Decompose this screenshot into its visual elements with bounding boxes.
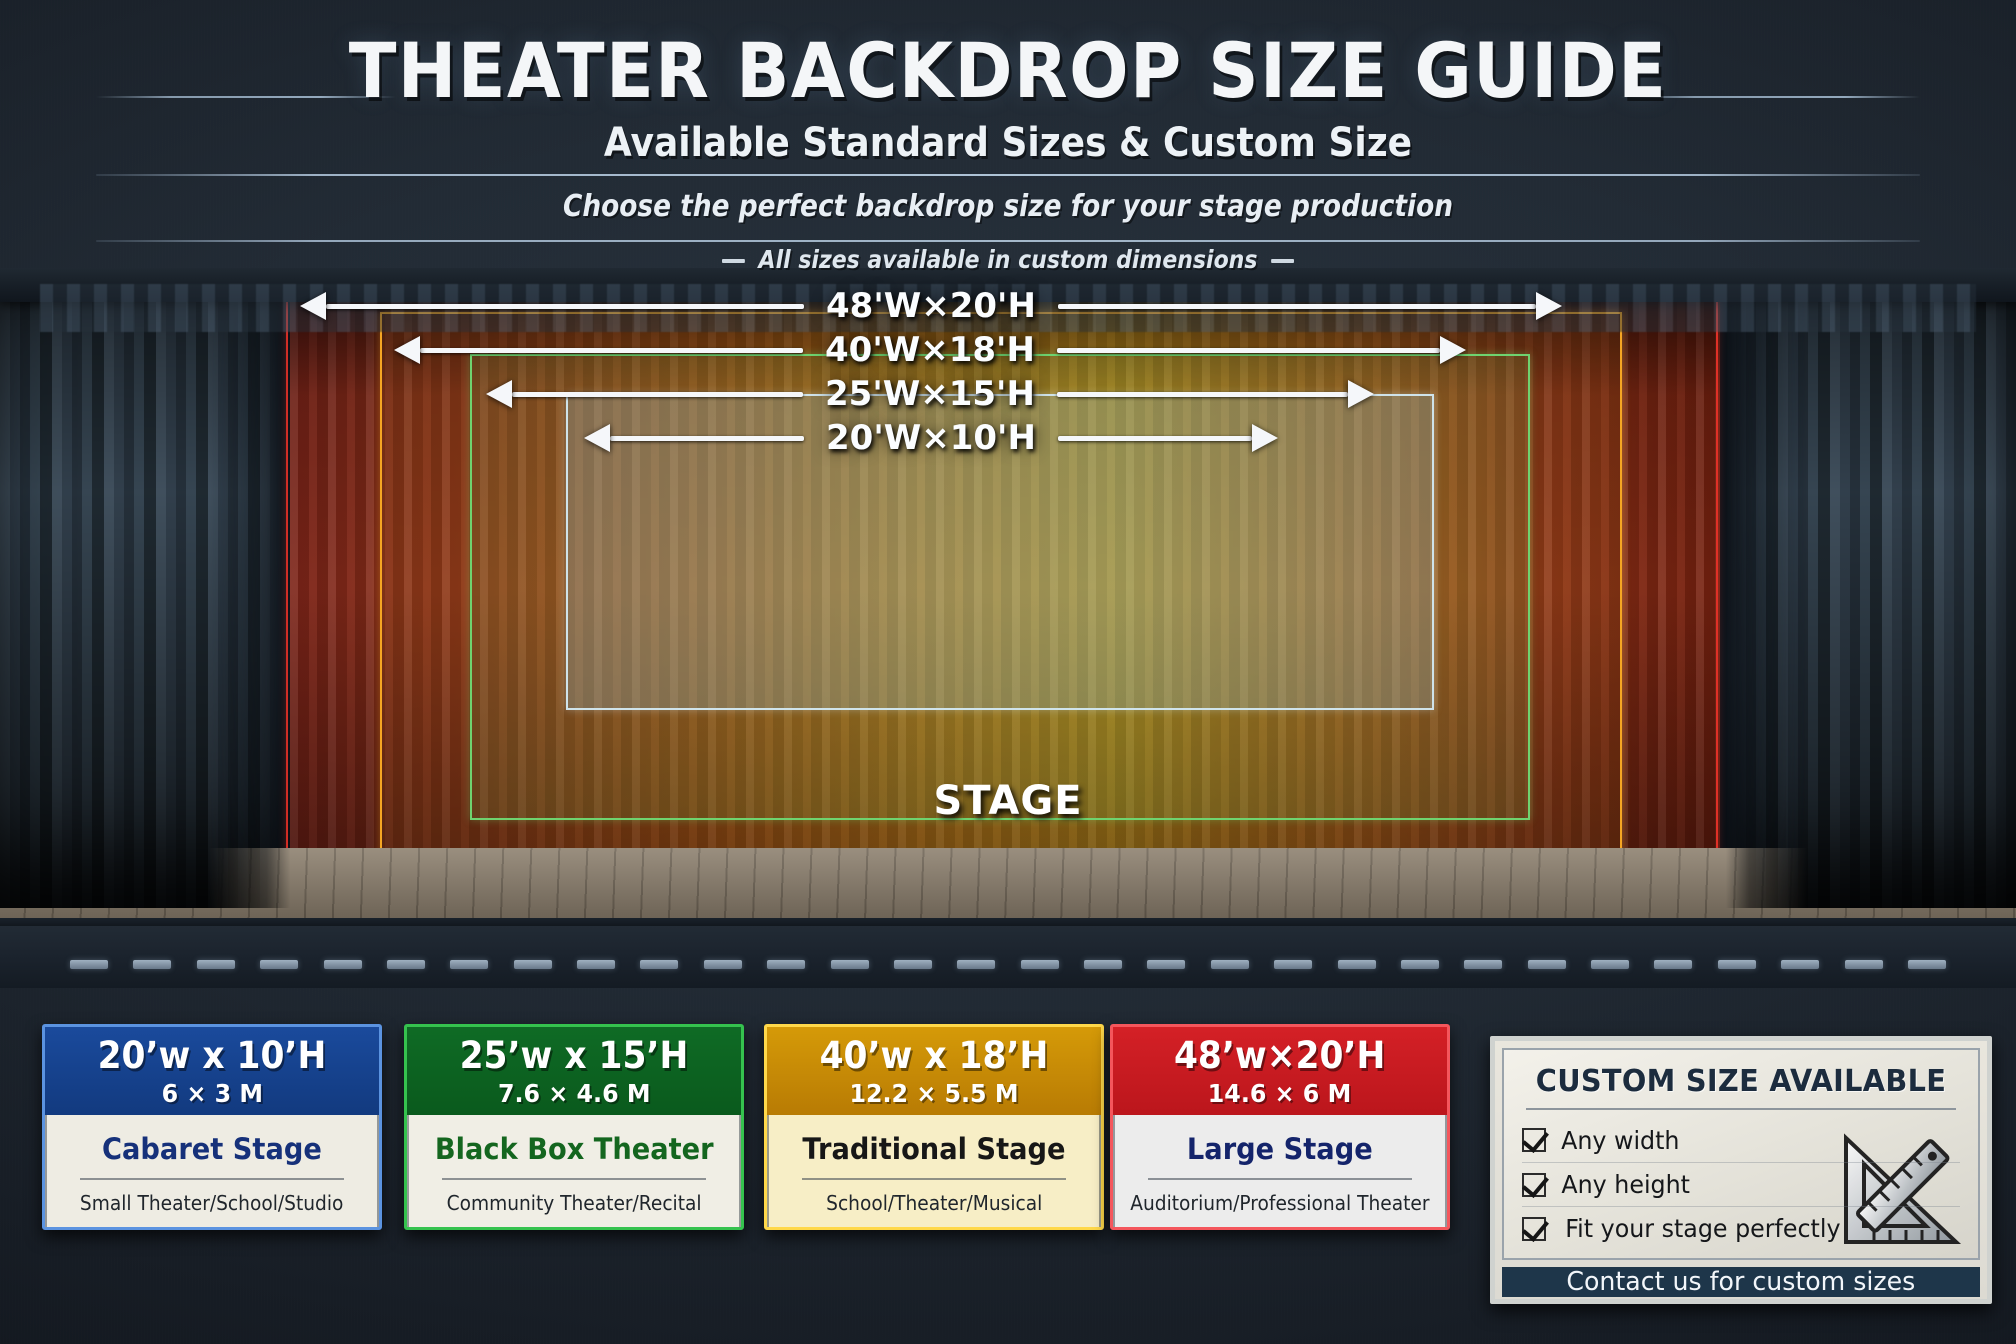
- arrow-right-icon: [1252, 424, 1278, 452]
- checkbox-checked-icon: [1522, 1173, 1546, 1197]
- footlight: [260, 960, 298, 969]
- arrow-left-icon: [300, 292, 326, 320]
- header-rule-low: [96, 240, 1920, 242]
- card-divider: [802, 1178, 1066, 1180]
- tagline-secondary-text: All sizes available in custom dimensions: [759, 245, 1258, 274]
- custom-panel-divider: [1526, 1108, 1956, 1110]
- card-usage-label: School/Theater/Musical: [826, 1191, 1042, 1215]
- stage-illustration: 48'W×20'H 40'W×18'H 25'W×15'H 20'W×10'H …: [0, 268, 2016, 988]
- arrow-right-icon: [1348, 380, 1374, 408]
- arrow-left-icon: [394, 336, 420, 364]
- dimension-label-20: 20'W×10'H: [804, 418, 1058, 458]
- arrow-left-icon: [486, 380, 512, 408]
- card-head: 25’w x 15’H 7.6 × 4.6 M: [407, 1027, 741, 1115]
- custom-panel-inner: CUSTOM SIZE AVAILABLE: [1502, 1048, 1980, 1260]
- header: THEATER BACKDROP SIZE GUIDE Available St…: [0, 0, 2016, 288]
- arrow-left-icon: [584, 424, 610, 452]
- card-body: Large Stage Auditorium/Professional Thea…: [1113, 1115, 1447, 1230]
- page-subtitle: Available Standard Sizes & Custom Size: [101, 120, 1915, 166]
- card-usage-label: Auditorium/Professional Theater: [1130, 1191, 1429, 1215]
- footlight: [1528, 960, 1566, 969]
- dimension-line-left: [610, 436, 804, 441]
- custom-feature-item: Any width: [1522, 1118, 1960, 1162]
- footlight: [1021, 960, 1059, 969]
- card-name-label: Large Stage: [1187, 1132, 1373, 1166]
- card-metric-label: 12.2 × 5.5 M: [849, 1079, 1018, 1108]
- dimension-row-25: 25'W×15'H: [486, 374, 1516, 414]
- card-body: Cabaret Stage Small Theater/School/Studi…: [45, 1115, 379, 1230]
- footlight: [514, 960, 552, 969]
- page-title: THEATER BACKDROP SIZE GUIDE: [81, 26, 1936, 115]
- custom-feature-item: Fit your stage perfectly: [1522, 1206, 1960, 1250]
- card-usage-label: Small Theater/School/Studio: [80, 1191, 343, 1215]
- size-card-cabaret[interactable]: 20’w x 10’H 6 × 3 M Cabaret Stage Small …: [42, 1024, 382, 1230]
- footlight: [387, 960, 425, 969]
- dimension-label-40: 40'W×18'H: [803, 330, 1057, 370]
- size-card-large[interactable]: 48’w×20’H 14.6 × 6 M Large Stage Auditor…: [1110, 1024, 1450, 1230]
- stage-label: STAGE: [0, 778, 2016, 824]
- footlight: [324, 960, 362, 969]
- footlight: [1654, 960, 1692, 969]
- arrow-right-icon: [1536, 292, 1562, 320]
- custom-feature-label: Fit your stage perfectly: [1565, 1214, 1840, 1243]
- footlight: [704, 960, 742, 969]
- dimension-label-25: 25'W×15'H: [803, 374, 1057, 414]
- checkbox-checked-icon: [1522, 1217, 1546, 1241]
- card-divider: [442, 1178, 706, 1180]
- custom-panel-cta[interactable]: Contact us for custom sizes: [1502, 1267, 1980, 1297]
- footlight: [1908, 960, 1946, 969]
- footlight: [640, 960, 678, 969]
- dimension-line-left: [326, 304, 804, 309]
- card-name-label: Cabaret Stage: [102, 1132, 322, 1166]
- footlight: [577, 960, 615, 969]
- card-body: Black Box Theater Community Theater/Reci…: [407, 1115, 741, 1230]
- size-card-black-box[interactable]: 25’w x 15’H 7.6 × 4.6 M Black Box Theate…: [404, 1024, 744, 1230]
- dimension-line-right: [1058, 436, 1252, 441]
- checkbox-checked-icon: [1522, 1128, 1546, 1152]
- page-tagline: Choose the perfect backdrop size for you…: [121, 189, 1895, 224]
- header-rule-mid: [96, 174, 1920, 176]
- card-head: 48’w×20’H 14.6 × 6 M: [1113, 1027, 1447, 1115]
- footlight: [133, 960, 171, 969]
- dimension-line-right: [1057, 348, 1440, 353]
- custom-feature-label: Any width: [1561, 1126, 1679, 1155]
- card-metric-label: 7.6 × 4.6 M: [498, 1079, 650, 1108]
- footlight-strip: [70, 960, 1946, 970]
- page-tagline-secondary: All sizes available in custom dimensions: [121, 245, 1895, 274]
- footlight: [894, 960, 932, 969]
- stage-floor: [0, 848, 2016, 926]
- card-usage-label: Community Theater/Recital: [447, 1191, 702, 1215]
- footlight: [197, 960, 235, 969]
- card-body: Traditional Stage School/Theater/Musical: [767, 1115, 1101, 1230]
- card-size-label: 25’w x 15’H: [460, 1034, 689, 1077]
- dimension-line-left: [512, 392, 803, 397]
- dash-right-icon: [1272, 259, 1295, 263]
- dimension-line-right: [1057, 392, 1348, 397]
- card-name-label: Traditional Stage: [802, 1132, 1065, 1166]
- dimension-line-left: [420, 348, 803, 353]
- footlight: [1591, 960, 1629, 969]
- card-divider: [1148, 1178, 1412, 1180]
- footlight: [1401, 960, 1439, 969]
- custom-size-panel[interactable]: CUSTOM SIZE AVAILABLE: [1490, 1036, 1992, 1304]
- card-divider: [80, 1178, 344, 1180]
- footlight: [1464, 960, 1502, 969]
- footlight: [1211, 960, 1249, 969]
- stage-apron: [0, 926, 2016, 988]
- dash-left-icon: [722, 259, 745, 263]
- footlight: [1718, 960, 1756, 969]
- card-metric-label: 6 × 3 M: [161, 1079, 262, 1108]
- footlight: [1147, 960, 1185, 969]
- card-size-label: 48’w×20’H: [1174, 1034, 1385, 1077]
- card-head: 20’w x 10’H 6 × 3 M: [45, 1027, 379, 1115]
- custom-feature-label: Any height: [1561, 1170, 1690, 1199]
- card-head: 40’w x 18’H 12.2 × 5.5 M: [767, 1027, 1101, 1115]
- dimension-row-20: 20'W×10'H: [584, 418, 1420, 458]
- card-name-label: Black Box Theater: [435, 1132, 714, 1166]
- dimension-line-right: [1058, 304, 1536, 309]
- footlight: [1781, 960, 1819, 969]
- card-metric-label: 14.6 × 6 M: [1208, 1079, 1351, 1108]
- custom-feature-item: Any height: [1522, 1162, 1960, 1206]
- card-size-label: 20’w x 10’H: [98, 1034, 327, 1077]
- footlight: [70, 960, 108, 969]
- infographic-root: THEATER BACKDROP SIZE GUIDE Available St…: [0, 0, 2016, 1344]
- card-size-label: 40’w x 18’H: [820, 1034, 1049, 1077]
- dimension-row-40: 40'W×18'H: [394, 330, 1608, 370]
- footlight: [1084, 960, 1122, 969]
- dimension-row-48: 48'W×20'H: [300, 286, 1704, 326]
- custom-panel-title: CUSTOM SIZE AVAILABLE: [1531, 1064, 1951, 1099]
- footlight: [831, 960, 869, 969]
- size-card-traditional[interactable]: 40’w x 18’H 12.2 × 5.5 M Traditional Sta…: [764, 1024, 1104, 1230]
- custom-panel-cta-label: Contact us for custom sizes: [1567, 1267, 1916, 1297]
- footlight: [1338, 960, 1376, 969]
- dimension-label-48: 48'W×20'H: [804, 286, 1058, 326]
- footlight: [1845, 960, 1883, 969]
- custom-feature-list: Any width Any height Fit your stage perf…: [1522, 1118, 1960, 1250]
- footlight: [1274, 960, 1312, 969]
- footlight: [957, 960, 995, 969]
- footlight: [450, 960, 488, 969]
- footlight: [767, 960, 805, 969]
- arrow-right-icon: [1440, 336, 1466, 364]
